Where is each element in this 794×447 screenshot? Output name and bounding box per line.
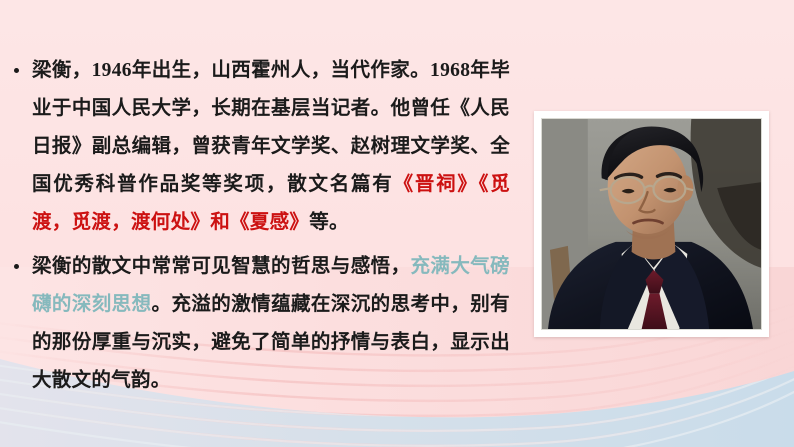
slide-root: 梁衡，1946年出生，山西霍州人，当代作家。1968年毕业于中国人民大学，长期在… xyxy=(0,0,794,447)
style-text-lead: 梁衡的散文中常常可见智慧的哲思与感悟， xyxy=(32,256,411,277)
bio-text-tail: 等。 xyxy=(309,212,349,233)
paragraph-biography: 梁衡，1946年出生，山西霍州人，当代作家。1968年毕业于中国人民大学，长期在… xyxy=(32,52,510,242)
bullet-dot-icon xyxy=(14,68,19,73)
bullet-dot-icon xyxy=(14,264,19,269)
slide-content: 梁衡，1946年出生，山西霍州人，当代作家。1968年毕业于中国人民大学，长期在… xyxy=(0,0,794,447)
list-item: 梁衡，1946年出生，山西霍州人，当代作家。1968年毕业于中国人民大学，长期在… xyxy=(10,52,510,242)
author-portrait-frame xyxy=(534,111,769,337)
bullet-list: 梁衡，1946年出生，山西霍州人，当代作家。1968年毕业于中国人民大学，长期在… xyxy=(10,52,510,400)
paragraph-writing-style: 梁衡的散文中常常可见智慧的哲思与感悟，充满大气磅礴的深刻思想。充溢的激情蕴藏在深… xyxy=(32,248,510,400)
list-item: 梁衡的散文中常常可见智慧的哲思与感悟，充满大气磅礴的深刻思想。充溢的激情蕴藏在深… xyxy=(10,248,510,400)
author-portrait-photo xyxy=(541,118,762,330)
